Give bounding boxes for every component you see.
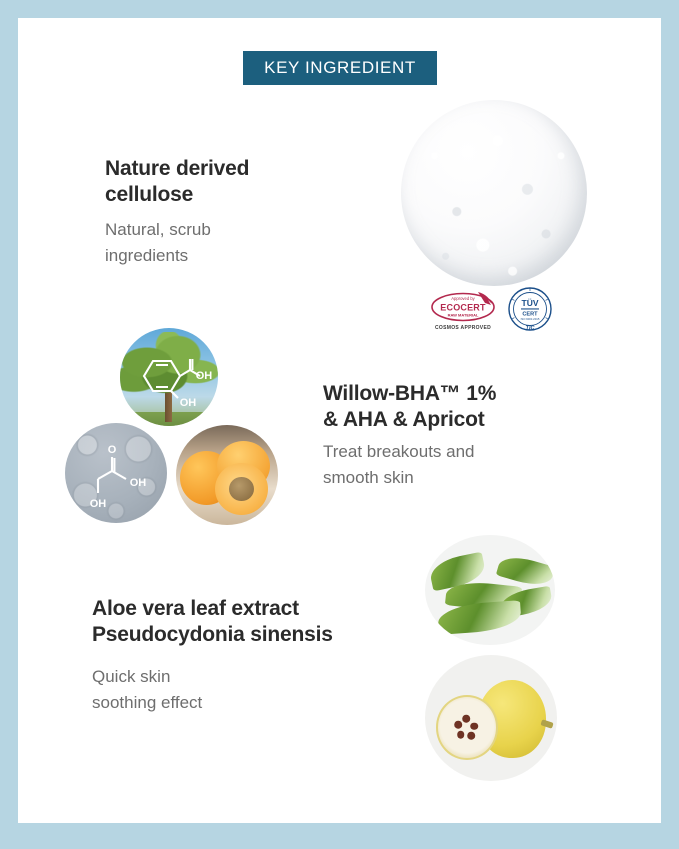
svg-text:TÜV: TÜV [522,298,539,308]
section-bha-text: Willow-BHA™ 1% & AHA & Apricot Treat bre… [323,381,573,491]
tuv-cert-logo: TÜV CERT ISO 9001:2015 TIC TÜV CERT [504,286,556,334]
aha-oh-label-2: OH [90,498,107,510]
aha-gel-image: O OH OH [65,423,167,523]
section-cellulose-subtext: Natural, scrub ingredients [105,217,335,269]
willow-tree-image: OH OH [120,328,218,426]
tuv-cert-label: CERT [504,334,505,335]
section-aloe-heading: Aloe vera leaf extract Pseudocydonia sin… [92,596,422,648]
infographic-page: KEY INGREDIENT Nature derived cellulose … [0,0,679,849]
quince-seed [462,715,470,723]
aha-oh-label-1: OH [130,477,147,489]
ecocert-name: ECOCERT [430,332,431,333]
section-bha-subtext: Treat breakouts and smooth skin [323,439,573,491]
certification-logos: Approved by ECOCERT RAW MATERIAL COSMOS … [422,286,562,336]
section-cellulose-heading: Nature derived cellulose [105,156,335,208]
apricot-pit [229,477,253,501]
cellulose-powder-image [401,100,587,286]
section-aloe-subtext: Quick skin soothing effect [92,664,422,716]
svg-text:ISO 9001:2015: ISO 9001:2015 [521,317,540,321]
ecocert-caption: COSMOS APPROVED [430,332,431,333]
section-cellulose-text: Nature derived cellulose Natural, scrub … [105,156,335,269]
section-aloe-text: Aloe vera leaf extract Pseudocydonia sin… [92,596,422,716]
quince-seed [468,732,476,740]
quince-seed [454,721,462,729]
content-canvas: KEY INGREDIENT Nature derived cellulose … [18,18,661,823]
quince-seed [471,722,479,730]
quince-image [425,655,557,781]
apricot-image [176,425,278,525]
aloe-vera-image [425,535,555,645]
svg-text:Approved by: Approved by [451,296,475,301]
key-ingredient-badge: KEY INGREDIENT [243,51,437,85]
lactic-acid-molecule-icon: O OH OH [65,423,167,523]
tuv-name: TÜV [504,334,505,335]
quince-seed-core [454,714,480,741]
quince-seed [457,731,465,739]
key-ingredient-badge-label: KEY INGREDIENT [264,58,416,78]
section-bha-heading: Willow-BHA™ 1% & AHA & Apricot [323,381,573,433]
svg-text:ECOCERT: ECOCERT [440,303,486,313]
svg-text:COSMOS APPROVED: COSMOS APPROVED [435,325,491,331]
powder-texture [401,100,587,286]
willow-oh-label-2: OH [180,397,197,409]
svg-text:TIC: TIC [526,326,535,332]
willow-oh-label-1: OH [196,370,213,382]
ecocert-logo: Approved by ECOCERT RAW MATERIAL COSMOS … [430,290,500,332]
quince-half [436,695,498,759]
svg-text:RAW MATERIAL: RAW MATERIAL [448,313,479,318]
salicylic-acid-molecule-icon: OH OH [120,328,218,426]
aha-o-label: O [108,444,117,456]
